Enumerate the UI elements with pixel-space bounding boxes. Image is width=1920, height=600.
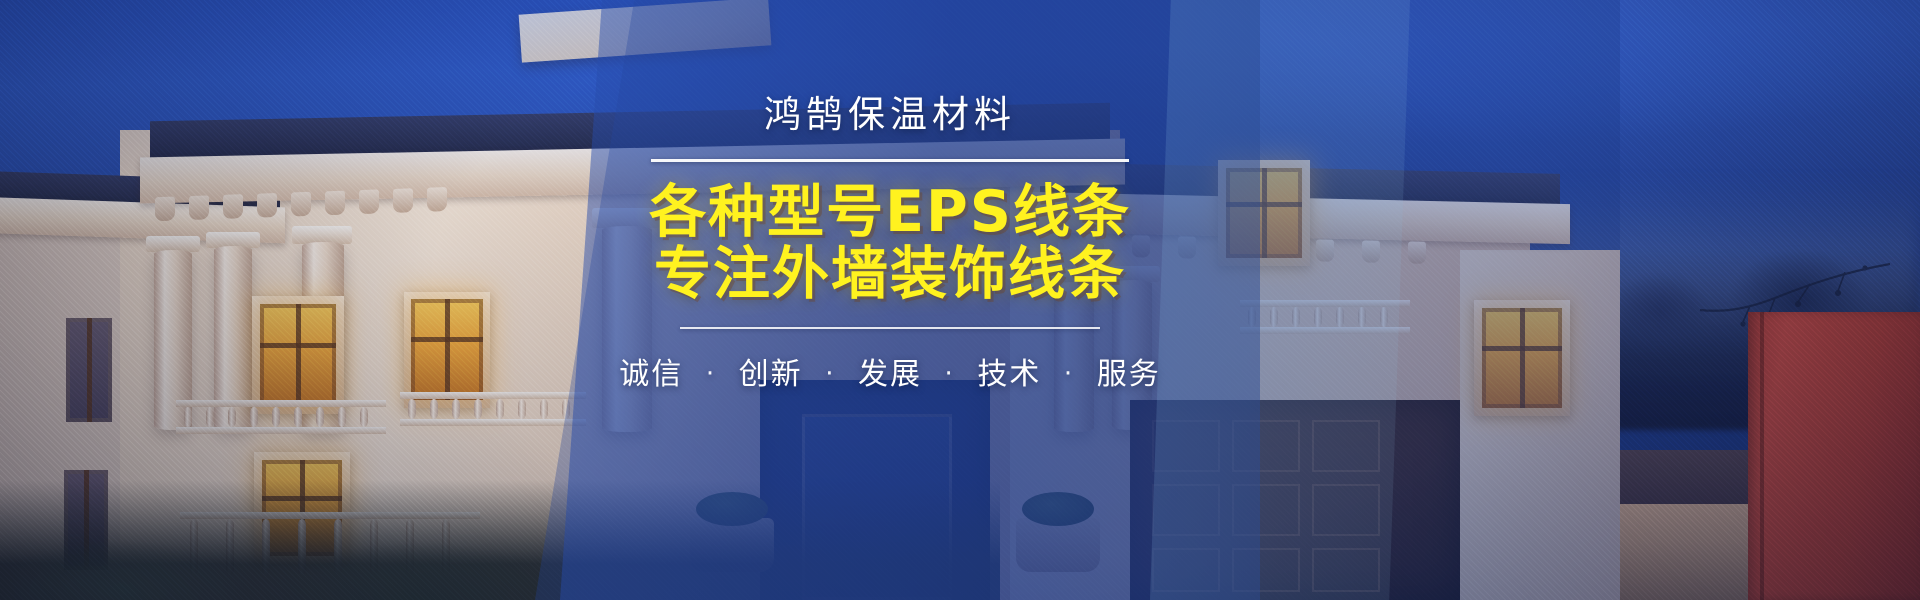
- divider-upper: [651, 159, 1129, 162]
- tagline-separator: ·: [1057, 359, 1081, 389]
- divider-lower: [680, 327, 1100, 329]
- headline-line-2: 专注外墙装饰线条: [560, 244, 1220, 306]
- tagline-separator: ·: [699, 359, 723, 389]
- headline-line-1: 各种型号EPS线条: [560, 182, 1220, 244]
- tagline-item-4: 服务: [1097, 357, 1161, 392]
- banner-copy: 鸿鹄保温材料 各种型号EPS线条 专注外墙装饰线条 诚信 · 创新 · 发展 ·…: [0, 0, 1920, 600]
- brand-subtitle: 鸿鹄保温材料: [560, 96, 1220, 133]
- tagline-item-0: 诚信: [619, 357, 683, 392]
- tagline: 诚信 · 创新 · 发展 · 技术 · 服务: [560, 349, 1220, 393]
- headline-group: 各种型号EPS线条 专注外墙装饰线条: [560, 182, 1220, 305]
- tagline-separator: ·: [818, 359, 842, 389]
- tagline-item-2: 发展: [858, 357, 922, 392]
- tagline-separator: ·: [938, 359, 962, 389]
- tagline-item-3: 技术: [977, 357, 1041, 392]
- tagline-item-1: 创新: [739, 357, 803, 392]
- hero-banner: 鸿鹄保温材料 各种型号EPS线条 专注外墙装饰线条 诚信 · 创新 · 发展 ·…: [0, 0, 1920, 600]
